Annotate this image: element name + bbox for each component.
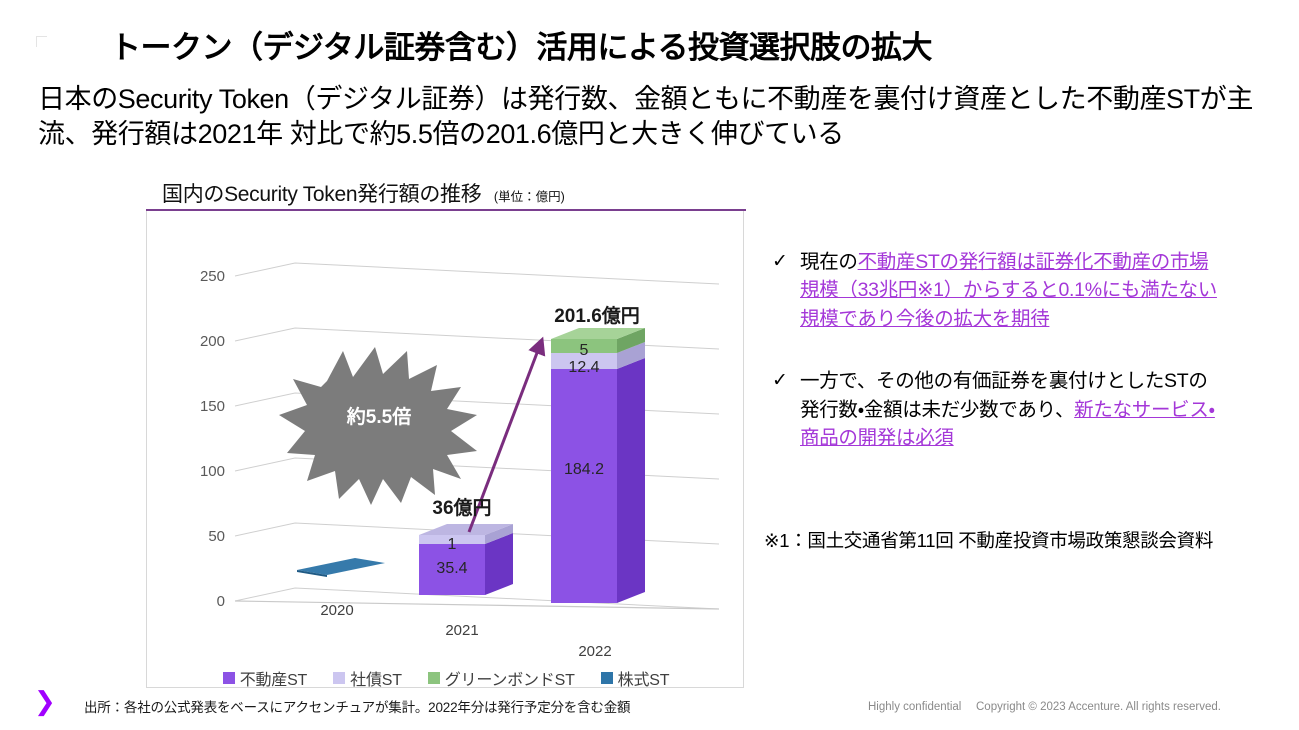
chart-unit-label: (単位：億円) [494, 186, 565, 205]
legend-item-fudosan-st[interactable]: 不動産ST [223, 666, 307, 688]
legend-label-fudosan-st: 不動産ST [240, 666, 307, 688]
bar-2022[interactable]: 5 12.4 184.2 [551, 328, 645, 603]
page-subtitle: 日本のSecurity Token（デジタル証券）は発行数、金額ともに不動産を裏… [38, 82, 1283, 151]
y-tick-0: 0 [217, 593, 225, 610]
legend-item-greenbond-st[interactable]: グリーンボンドST [428, 666, 575, 688]
y-tick-100: 100 [200, 463, 225, 480]
legend-label-shasai-st: 社債ST [350, 666, 402, 688]
check-icon: ✓ [772, 367, 800, 395]
bar-2022-value-shasai: 12.4 [568, 359, 599, 376]
x-label-2021: 2021 [445, 622, 478, 639]
legend-label-kabushiki-st: 株式ST [618, 666, 670, 688]
chart-legend: 不動産ST 社債ST グリーンボンドST 株式ST [147, 666, 744, 688]
bar-2021-value-shasai: 1 [448, 536, 457, 553]
legend-swatch-icon [601, 672, 613, 684]
chart-plot-frame: 250 200 150 100 50 0 [146, 211, 744, 688]
chart-plot-svg: 250 200 150 100 50 0 [147, 211, 744, 688]
growth-burst-label: 約5.5倍 [346, 405, 411, 428]
corner-crop-mark [36, 36, 47, 47]
y-tick-250: 250 [200, 268, 225, 285]
y-tick-150: 150 [200, 398, 225, 415]
growth-burst: 約5.5倍 [279, 347, 477, 505]
callout-total-2021: 36億円 [432, 496, 491, 519]
y-tick-50: 50 [208, 528, 225, 545]
callout-total-2022: 201.6億円 [554, 304, 640, 327]
page-title: トークン（デジタル証券含む）活用による投資選択肢の拡大 [110, 30, 1240, 66]
bar-2021[interactable]: 1 35.4 [419, 524, 513, 595]
bullet-text: 現在の不動産STの発行額は証券化不動産の市場規模（33兆円※1）からすると0.1… [800, 248, 1220, 333]
x-label-2022: 2022 [578, 643, 611, 660]
bullet-item: ✓ 一方で、その他の有価証券を裏付けとしたSTの発行数・金額は未だ少数であり、新… [772, 367, 1220, 452]
x-label-2020: 2020 [320, 602, 353, 619]
y-tick-200: 200 [200, 333, 225, 350]
footer-source-note: 出所：各社の公式発表をベースにアクセンチュアが集計。2022年分は発行予定分を含… [84, 696, 630, 716]
bar-2022-value-green: 5 [580, 342, 589, 359]
bullet-text-plain: 現在の [800, 251, 858, 273]
bullet-text-highlight: 不動産STの発行額は証券化不動産の市場規模（33兆円※1）からすると0.1%にも… [800, 251, 1217, 330]
chart-title: 国内のSecurity Token発行額の推移 [162, 178, 481, 208]
legend-item-shasai-st[interactable]: 社債ST [333, 666, 402, 688]
legend-swatch-icon [428, 672, 440, 684]
chart-header: 国内のSecurity Token発行額の推移 (単位：億円) [146, 178, 746, 208]
footer-confidentiality-label: Highly confidential [868, 701, 961, 713]
footer-copyright: Copyright © 2023 Accenture. All rights r… [976, 701, 1221, 713]
insights-panel: ✓ 現在の不動産STの発行額は証券化不動産の市場規模（33兆円※1）からすると0… [772, 248, 1220, 479]
y-axis-ticks: 250 200 150 100 50 0 [200, 268, 225, 610]
bullet-item: ✓ 現在の不動産STの発行額は証券化不動産の市場規模（33兆円※1）からすると0… [772, 248, 1220, 333]
legend-item-kabushiki-st[interactable]: 株式ST [601, 666, 670, 688]
x-axis-categories: 2020 2021 2022 [320, 602, 611, 660]
bar-2021-value-fudosan: 35.4 [436, 560, 467, 577]
bar-2020[interactable] [297, 558, 385, 577]
legend-swatch-icon [333, 672, 345, 684]
footnote-reference: ※1：国土交通省第11回 不動産投資市場政策懇談会資料 [764, 528, 1224, 554]
chart-container: 国内のSecurity Token発行額の推移 (単位：億円) [146, 178, 746, 690]
check-icon: ✓ [772, 248, 800, 276]
legend-swatch-icon [223, 672, 235, 684]
chevron-right-icon: ❯ [34, 688, 56, 714]
legend-label-greenbond-st: グリーンボンドST [445, 666, 575, 688]
bar-2022-value-fudosan: 184.2 [564, 461, 604, 478]
bullet-text: 一方で、その他の有価証券を裏付けとしたSTの発行数・金額は未だ少数であり、新たな… [800, 367, 1220, 452]
